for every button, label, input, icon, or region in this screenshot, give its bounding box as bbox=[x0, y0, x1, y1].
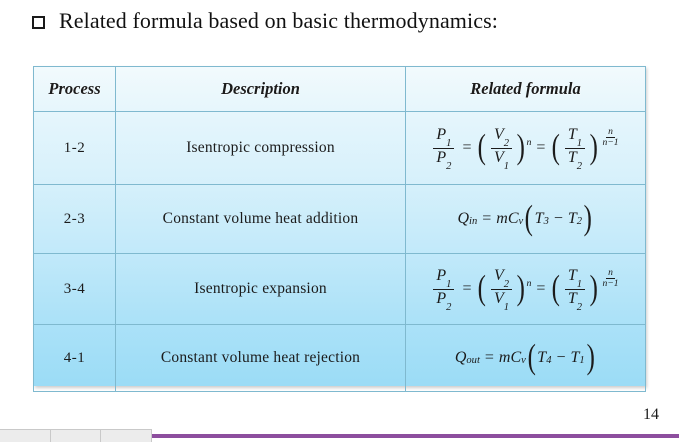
formula-isentropic-compression: P1 P2 = ( V2 V1 )n = ( bbox=[430, 127, 620, 169]
column-header-related-formula: Related formula bbox=[406, 67, 646, 112]
slide-heading: Related formula based on basic thermodyn… bbox=[32, 8, 498, 34]
page-number: 14 bbox=[643, 406, 659, 424]
description-value: Constant volume heat rejection bbox=[116, 325, 406, 392]
formula-value: Qout = mCv ( T4 − T1 ) bbox=[406, 325, 646, 392]
formula-value: P1 P2 = ( V2 V1 )n = ( bbox=[406, 254, 646, 325]
description-value: Constant volume heat addition bbox=[116, 185, 406, 254]
page-title: Related formula based on basic thermodyn… bbox=[59, 8, 498, 34]
formula-isentropic-expansion: P1 P2 = ( V2 V1 )n = ( bbox=[430, 268, 620, 310]
table-body: 1-2 Isentropic compression P1 P2 = ( V2 bbox=[34, 112, 646, 392]
description-value: Isentropic expansion bbox=[116, 254, 406, 325]
table-header-row: Process Description Related formula bbox=[34, 67, 646, 112]
process-value: 1-2 bbox=[34, 112, 116, 185]
table-row: 4-1 Constant volume heat rejection Qout … bbox=[34, 325, 646, 392]
taskbar-segment[interactable] bbox=[0, 430, 51, 442]
slide-canvas: Related formula based on basic thermodyn… bbox=[0, 0, 679, 442]
taskbar-segment[interactable] bbox=[51, 430, 102, 442]
process-value: 3-4 bbox=[34, 254, 116, 325]
taskbar-stub[interactable] bbox=[0, 429, 152, 442]
table-header: Process Description Related formula bbox=[34, 67, 646, 112]
table-row: 2-3 Constant volume heat addition Qin = … bbox=[34, 185, 646, 254]
process-value: 2-3 bbox=[34, 185, 116, 254]
formula-table-container: Process Description Related formula 1-2 … bbox=[33, 66, 645, 386]
description-value: Isentropic compression bbox=[116, 112, 406, 185]
formula-heat-rejection: Qout = mCv ( T4 − T1 ) bbox=[455, 347, 596, 368]
table-row: 1-2 Isentropic compression P1 P2 = ( V2 bbox=[34, 112, 646, 185]
formula-heat-addition: Qin = mCv ( T3 − T2 ) bbox=[457, 208, 593, 229]
formula-value: P1 P2 = ( V2 V1 )n = ( bbox=[406, 112, 646, 185]
column-header-description: Description bbox=[116, 67, 406, 112]
thermodynamics-formula-table: Process Description Related formula 1-2 … bbox=[33, 66, 646, 392]
process-value: 4-1 bbox=[34, 325, 116, 392]
formula-value: Qin = mCv ( T3 − T2 ) bbox=[406, 185, 646, 254]
table-row: 3-4 Isentropic expansion P1 P2 = ( V2 bbox=[34, 254, 646, 325]
column-header-process: Process bbox=[34, 67, 116, 112]
taskbar-segment[interactable] bbox=[101, 430, 152, 442]
hollow-square-bullet-icon bbox=[32, 16, 45, 29]
